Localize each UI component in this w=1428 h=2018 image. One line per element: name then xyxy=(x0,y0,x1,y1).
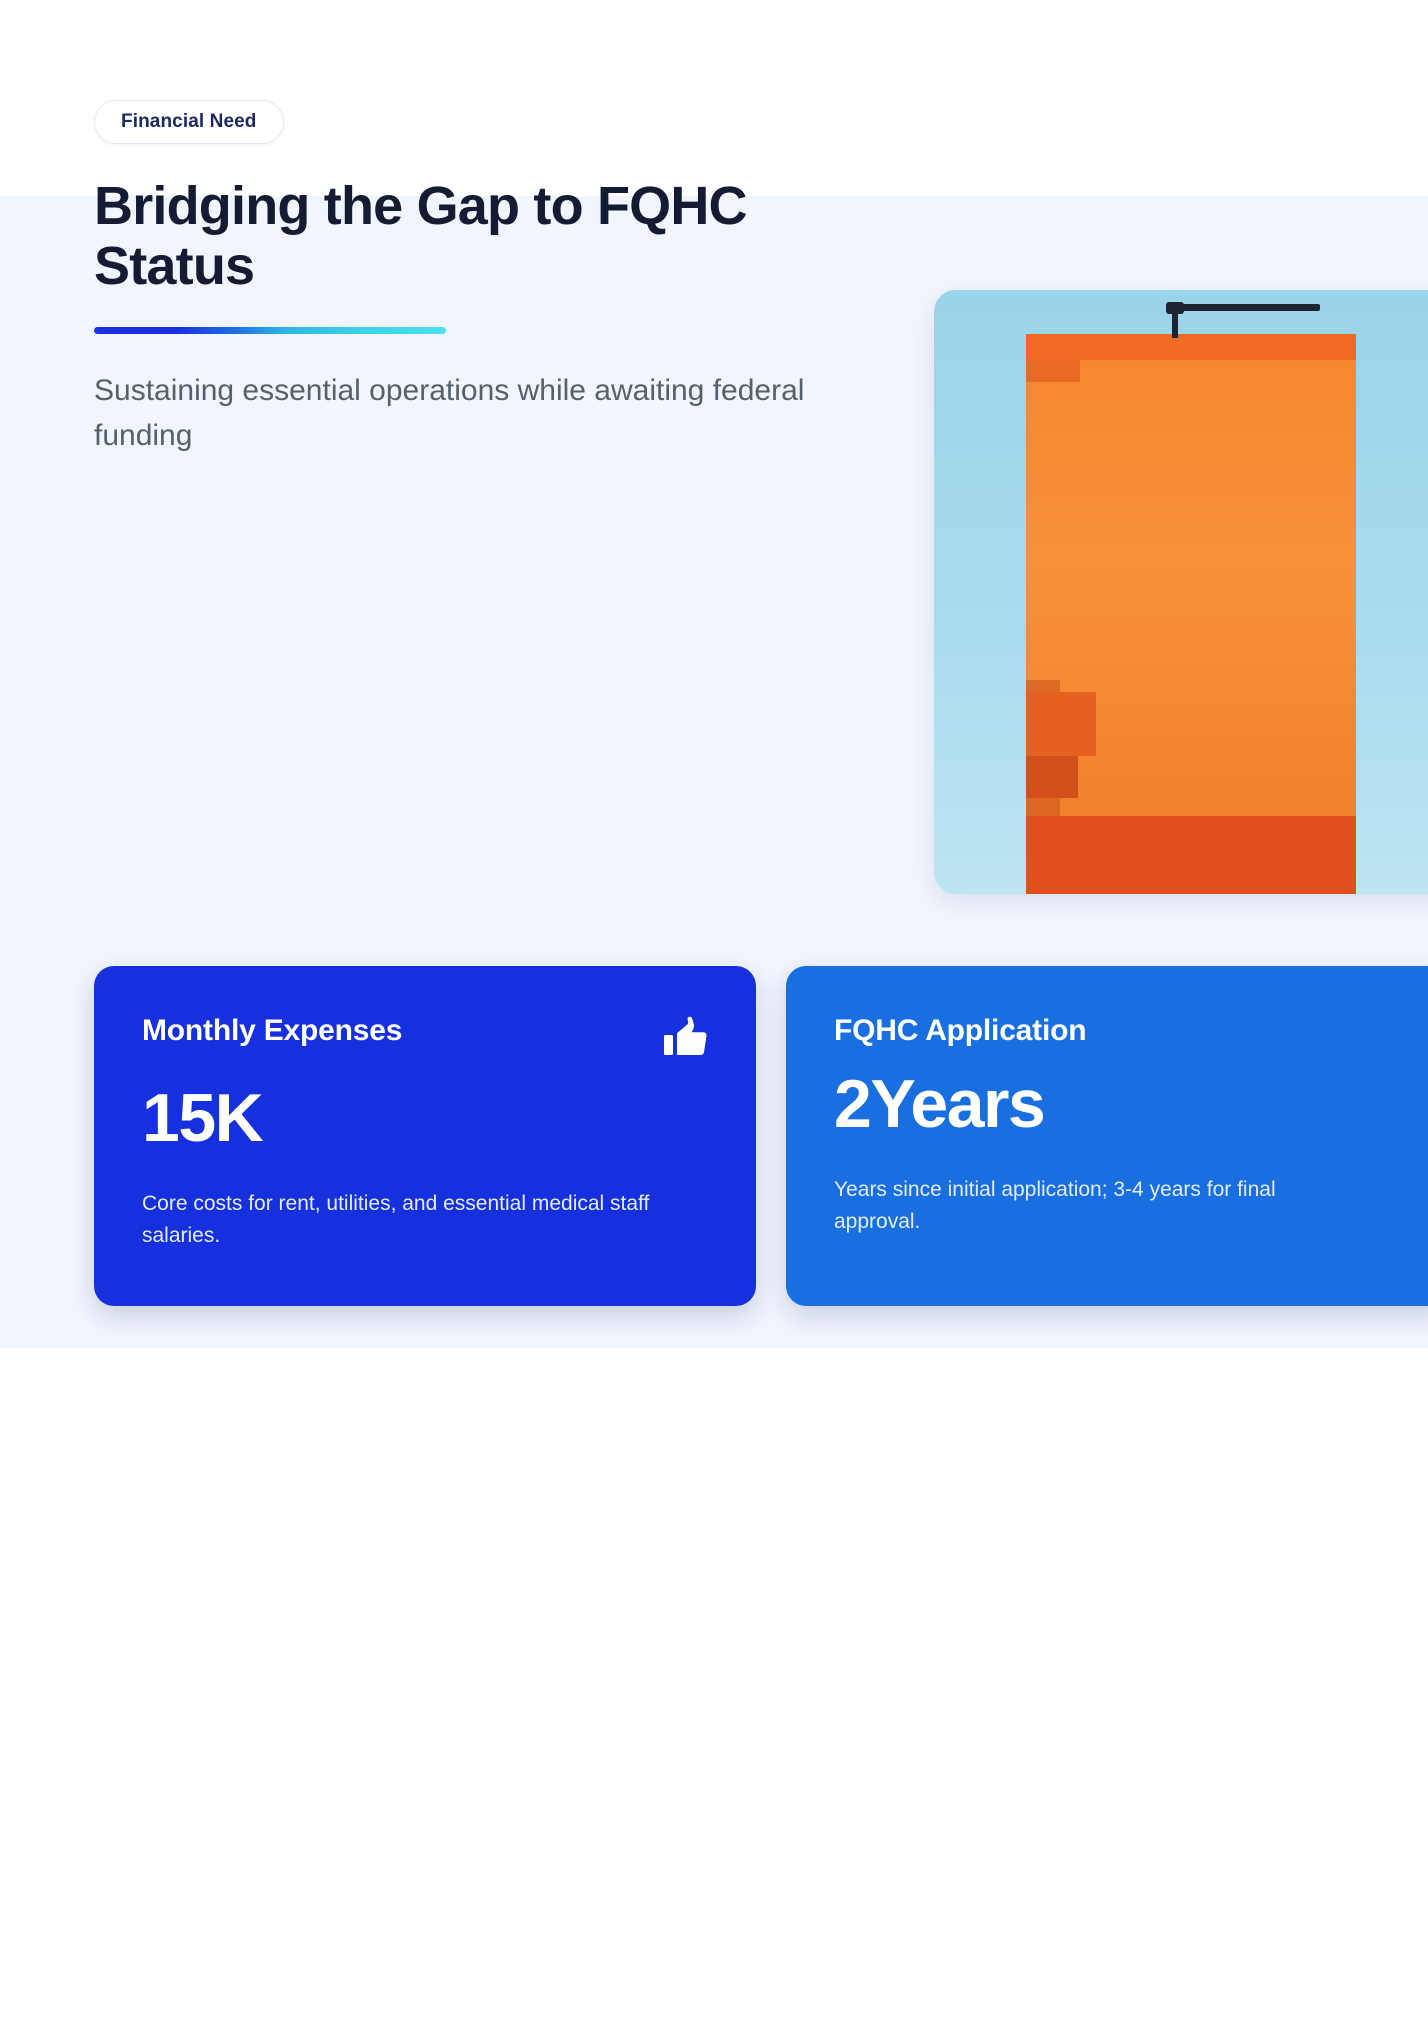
building-roof-lip xyxy=(1026,360,1080,382)
stat-card-description: Core costs for rent, utilities, and esse… xyxy=(142,1188,672,1251)
stat-card-header: FQHC Application xyxy=(834,1014,1402,1048)
slide-root: Financial Need Bridging the Gap to FQHC … xyxy=(0,0,1428,2018)
category-badge: Financial Need xyxy=(94,100,284,144)
antenna-arm-icon xyxy=(1170,304,1320,311)
gradient-divider xyxy=(94,327,446,334)
stat-card-title: FQHC Application xyxy=(834,1014,1086,1048)
stat-card-header: Monthly Expenses xyxy=(142,1014,710,1062)
building-facade xyxy=(1026,334,1356,894)
hero-text-column: Financial Need Bridging the Gap to FQHC … xyxy=(94,100,854,458)
stat-card-value: 15K xyxy=(142,1084,710,1152)
building-base xyxy=(1026,816,1356,894)
page-subtitle: Sustaining essential operations while aw… xyxy=(94,368,834,458)
hero-image-card xyxy=(934,290,1428,894)
page-title: Bridging the Gap to FQHC Status xyxy=(94,176,774,297)
stat-card-row: Monthly Expenses 15K Core costs for rent… xyxy=(94,966,1428,1306)
building-roof xyxy=(1026,334,1356,360)
antenna-head-icon xyxy=(1166,302,1184,314)
stat-card-monthly-expenses[interactable]: Monthly Expenses 15K Core costs for rent… xyxy=(94,966,756,1306)
building-ledge xyxy=(1026,692,1096,756)
stat-card-description: Years since initial application; 3-4 yea… xyxy=(834,1174,1364,1237)
stat-card-title: Monthly Expenses xyxy=(142,1014,402,1048)
stat-card-value: 2Years xyxy=(834,1070,1402,1138)
thumbs-up-icon xyxy=(662,1014,710,1062)
building-ledge-lower xyxy=(1026,756,1078,798)
stat-card-fqhc-application[interactable]: FQHC Application 2Years Years since init… xyxy=(786,966,1428,1306)
